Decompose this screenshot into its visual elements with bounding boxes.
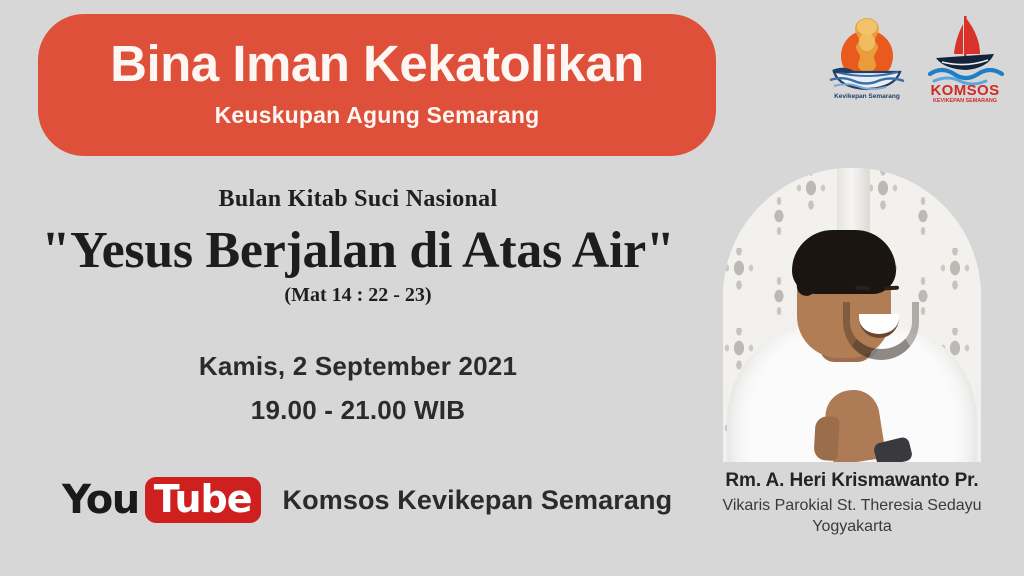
- scripture-reference: (Mat 14 : 22 - 23): [0, 284, 716, 307]
- youtube-logo-tube: Tube: [154, 477, 252, 521]
- svg-text:Kevikepan Semarang: Kevikepan Semarang: [834, 93, 900, 100]
- banner-title: Bina Iman Kekatolikan: [110, 37, 644, 91]
- speaker-hair: [792, 230, 896, 294]
- kevikepan-semarang-logo: Kevikepan Semarang: [824, 10, 910, 106]
- komsos-logo: KOMSOS KEVIKEPAN SEMARANG: [922, 10, 1008, 106]
- speaker-caption: Rm. A. Heri Krismawanto Pr. Vikaris Paro…: [680, 470, 1024, 536]
- svg-text:KEVIKEPAN SEMARANG: KEVIKEPAN SEMARANG: [933, 98, 997, 104]
- youtube-logo-tube-badge: Tube: [145, 477, 261, 523]
- svg-text:KOMSOS: KOMSOS: [930, 82, 999, 99]
- speaker-eye-right: [884, 286, 899, 291]
- speaker-city: Yogyakarta: [680, 518, 1024, 536]
- program-label: Bulan Kitab Suci Nasional: [0, 186, 716, 213]
- event-info: Bulan Kitab Suci Nasional "Yesus Berjala…: [0, 186, 716, 426]
- speaker-name: Rm. A. Heri Krismawanto Pr.: [680, 470, 1024, 492]
- event-time: 19.00 - 21.00 WIB: [0, 395, 716, 426]
- youtube-channel-name: Komsos Kevikepan Semarang: [283, 485, 673, 516]
- event-date: Kamis, 2 September 2021: [0, 351, 716, 382]
- speaker-photo: [723, 168, 981, 462]
- banner-subtitle: Keuskupan Agung Semarang: [215, 102, 540, 129]
- youtube-logo-you: You: [62, 480, 139, 520]
- speaker-role: Vikaris Parokial St. Theresia Sedayu: [680, 497, 1024, 515]
- youtube-icon[interactable]: You Tube: [62, 477, 261, 523]
- event-title: "Yesus Berjalan di Atas Air": [0, 223, 716, 278]
- header-banner: Bina Iman Kekatolikan Keuskupan Agung Se…: [38, 14, 716, 156]
- youtube-channel-row[interactable]: You Tube Komsos Kevikepan Semarang: [62, 477, 672, 523]
- logo-group: Kevikepan Semarang KOMSOS KEVIKEPAN SEMA…: [824, 10, 1008, 106]
